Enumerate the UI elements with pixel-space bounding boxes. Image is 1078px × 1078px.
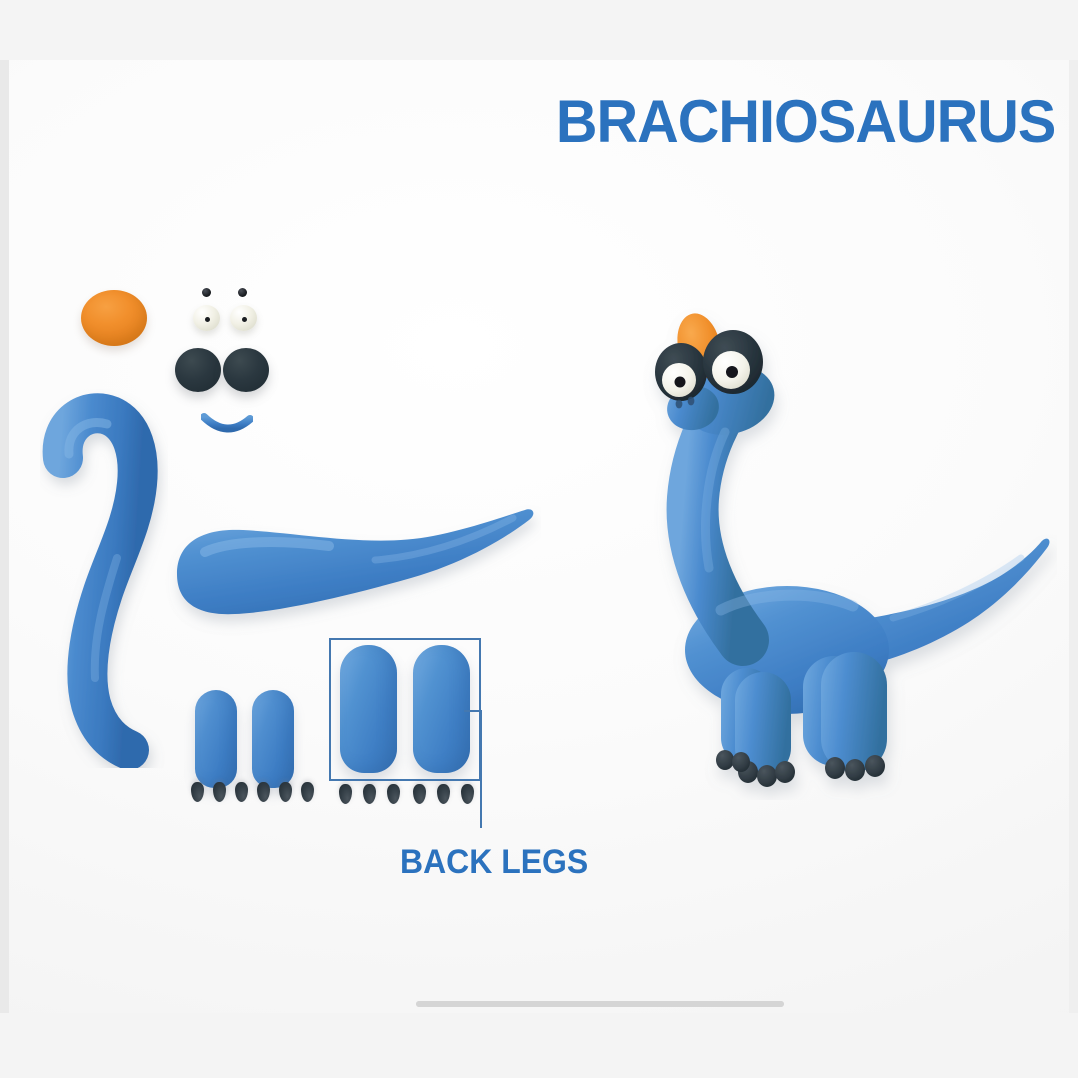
part-body-tail bbox=[161, 490, 541, 650]
eyeball-iris bbox=[242, 317, 247, 322]
page-title: BRACHIOSAURUS bbox=[555, 92, 1055, 152]
frame-left-edge bbox=[0, 60, 9, 1013]
part-claw bbox=[437, 784, 450, 804]
horizontal-scrollbar-track[interactable] bbox=[416, 1001, 784, 1007]
screenshot-root: BRACHIOSAURUS bbox=[0, 0, 1078, 1078]
horizontal-scrollbar-thumb[interactable] bbox=[416, 1001, 784, 1007]
part-mouth bbox=[201, 413, 253, 439]
part-claw bbox=[213, 782, 226, 802]
part-eye-patch bbox=[175, 348, 221, 392]
part-claw bbox=[387, 784, 400, 804]
part-eyeball bbox=[193, 305, 220, 331]
frame-top-band bbox=[0, 0, 1078, 60]
part-pupil bbox=[202, 288, 211, 297]
part-claw bbox=[339, 784, 352, 804]
tutorial-photo: BRACHIOSAURUS bbox=[9, 60, 1069, 1013]
eyeball-iris bbox=[205, 317, 210, 322]
callout-leader-line bbox=[480, 710, 482, 828]
part-claw bbox=[301, 782, 314, 802]
frame-bottom-band bbox=[0, 1013, 1078, 1078]
part-claw bbox=[413, 784, 426, 804]
part-pupil bbox=[238, 288, 247, 297]
part-claw bbox=[235, 782, 248, 802]
back-legs-highlight-box bbox=[329, 638, 481, 781]
part-claw bbox=[363, 784, 376, 804]
part-head-crest bbox=[81, 290, 147, 346]
assembled-brachiosaurus bbox=[617, 300, 1057, 800]
part-claw bbox=[191, 782, 204, 802]
back-legs-label: BACK LEGS bbox=[400, 843, 588, 882]
part-claw bbox=[257, 782, 270, 802]
part-eyeball bbox=[230, 305, 257, 331]
part-front-leg bbox=[252, 690, 294, 788]
part-front-leg bbox=[195, 690, 237, 788]
frame-right-edge bbox=[1069, 60, 1078, 1013]
part-eye-patch bbox=[223, 348, 269, 392]
part-claw bbox=[279, 782, 292, 802]
part-claw bbox=[461, 784, 474, 804]
